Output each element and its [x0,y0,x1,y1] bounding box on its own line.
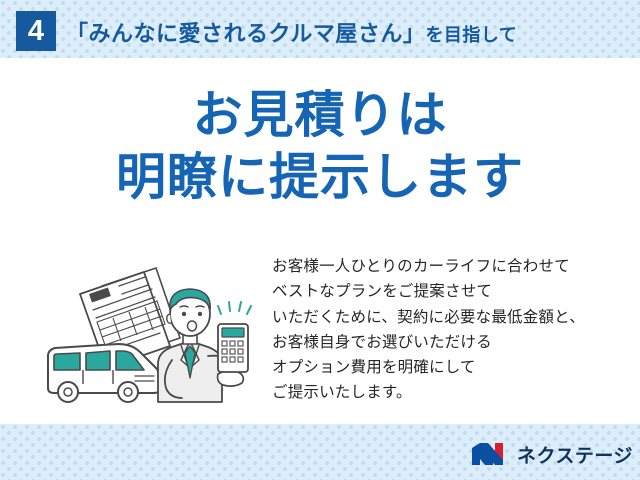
calculator-display [222,328,244,337]
body-copy-line: お客様自身でお選びいただける [272,330,634,355]
calculator-device [218,324,248,372]
sparkle-marks [218,302,251,314]
body-copy-line: ベストなプランをご提案させて [272,279,634,304]
advertisement-slide: 4 「みんなに愛されるクルマ屋さん」を目指して お見積りは 明瞭に提示します お… [0,0,640,480]
eye-left [182,312,186,316]
headline: お見積りは 明瞭に提示します [0,84,640,208]
illustration-salesman-estimate [40,256,270,416]
headline-line-1: お見積りは [0,84,640,146]
body-copy-line: いただくために、契約に必要な最低金額と、 [272,305,634,330]
step-number-badge: 4 [16,11,56,51]
brand-logo: ネクステージ [472,440,633,468]
nextage-n-mark-icon [472,441,510,467]
header-title-quoted: 「みんなに愛されるクルマ屋さん」 [66,16,425,48]
header-title: 「みんなに愛されるクルマ屋さん」を目指して [66,16,517,48]
headline-line-2: 明瞭に提示します [0,146,640,208]
content-panel: お見積りは 明瞭に提示します お客様一人ひとりのカーライフに合わせて ベストなプ… [0,58,640,424]
body-copy-line: ご提示いたします。 [272,380,634,405]
brand-name-text: ネクステージ [517,441,633,468]
body-copy-line: お客様一人ひとりのカーライフに合わせて [272,254,634,279]
header-title-suffix: を目指して [425,21,517,47]
eye-right [198,312,202,316]
body-copy-line: オプション費用を明確にして [272,355,634,380]
body-copy: お客様一人ひとりのカーライフに合わせて ベストなプランをご提案させて いただくた… [272,254,634,406]
